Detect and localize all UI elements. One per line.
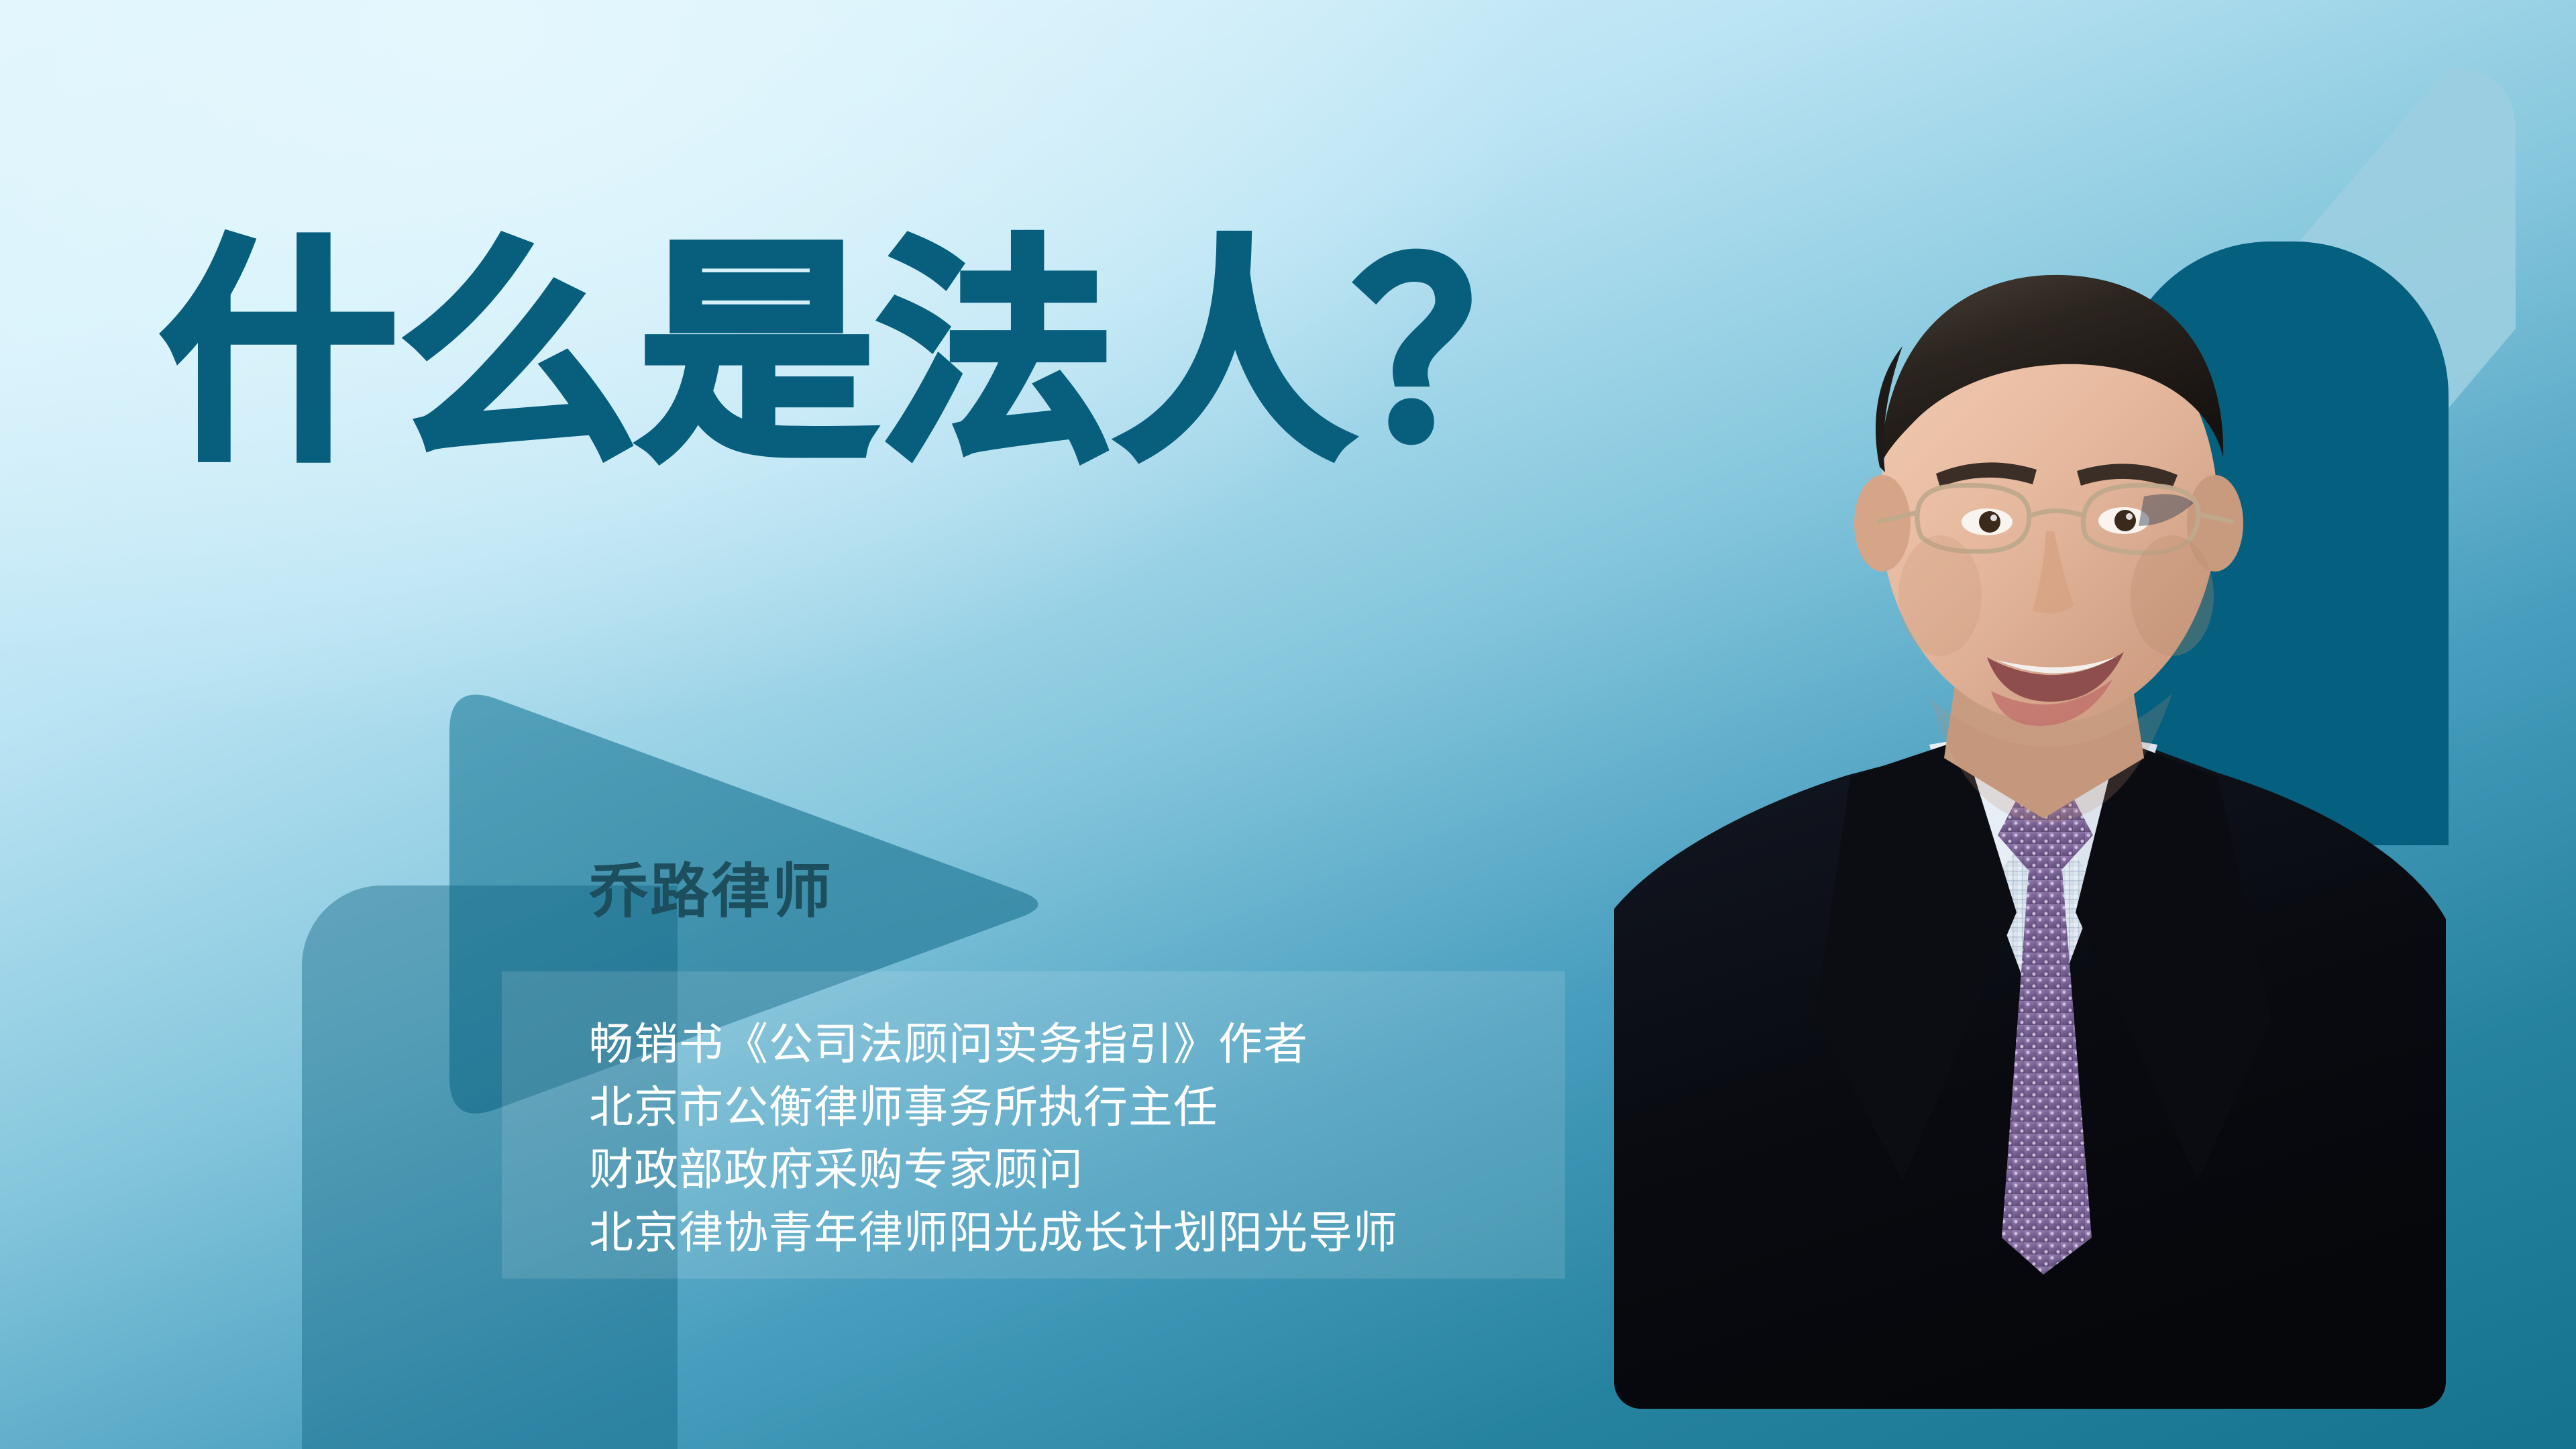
- bio-line-3: 财政部政府采购专家顾问: [589, 1138, 1398, 1201]
- slide-title: 什么是法人？: [161, 236, 1594, 472]
- presentation-slide: 什么是法人？ 乔路律师 畅销书《公司法顾问实务指引》作者 北京市公衡律师事务所执…: [0, 0, 2576, 1449]
- bio-line-2: 北京市公衡律师事务所执行主任: [589, 1076, 1398, 1139]
- bio-line-1: 畅销书《公司法顾问实务指引》作者: [589, 1013, 1398, 1076]
- bio-line-4: 北京律协青年律师阳光成长计划阳光导师: [589, 1201, 1398, 1265]
- speaker-portrait: [1614, 228, 2446, 1409]
- speaker-bio: 畅销书《公司法顾问实务指引》作者 北京市公衡律师事务所执行主任 财政部政府采购专…: [589, 1013, 1398, 1265]
- speaker-name: 乔路律师: [589, 844, 833, 929]
